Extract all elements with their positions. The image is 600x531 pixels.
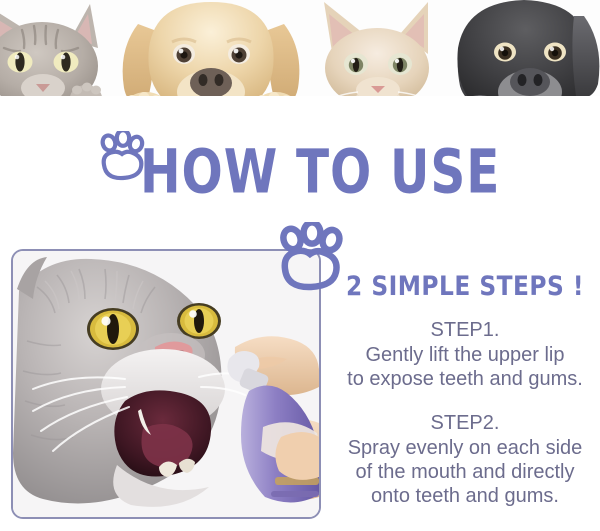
step-1-line-2: to expose teeth and gums. — [330, 367, 600, 391]
title-row: HOW TO USE — [96, 131, 496, 201]
step-2-block: STEP2. Spray evenly on each side of the … — [330, 411, 600, 508]
cat-cream-illustration — [312, 0, 444, 108]
step-2-line-1: Spray evenly on each side — [330, 436, 600, 460]
cat-gray-illustration — [0, 0, 110, 108]
pet-photo-banner — [0, 0, 600, 122]
pet-photo-cat-gray — [0, 0, 110, 108]
pet-photo-cat-cream — [312, 0, 444, 108]
cat-spray-photo-illustration — [13, 251, 319, 517]
page-title: HOW TO USE — [140, 141, 500, 202]
step-1-line-1: Gently lift the upper lip — [330, 343, 600, 367]
steps-column: 2 SIMPLE STEPS ! STEP1. Gently lift the … — [330, 272, 600, 527]
step-2-label: STEP2. — [330, 411, 600, 436]
step-1-label: STEP1. — [330, 318, 600, 343]
step-2-line-2: of the mouth and directly — [330, 460, 600, 484]
banner-white-ledge — [0, 96, 600, 122]
step-1-block: STEP1. Gently lift the upper lip to expo… — [330, 318, 600, 391]
step-2-line-3: onto teeth and gums. — [330, 484, 600, 508]
steps-heading: 2 SIMPLE STEPS ! — [335, 272, 594, 302]
